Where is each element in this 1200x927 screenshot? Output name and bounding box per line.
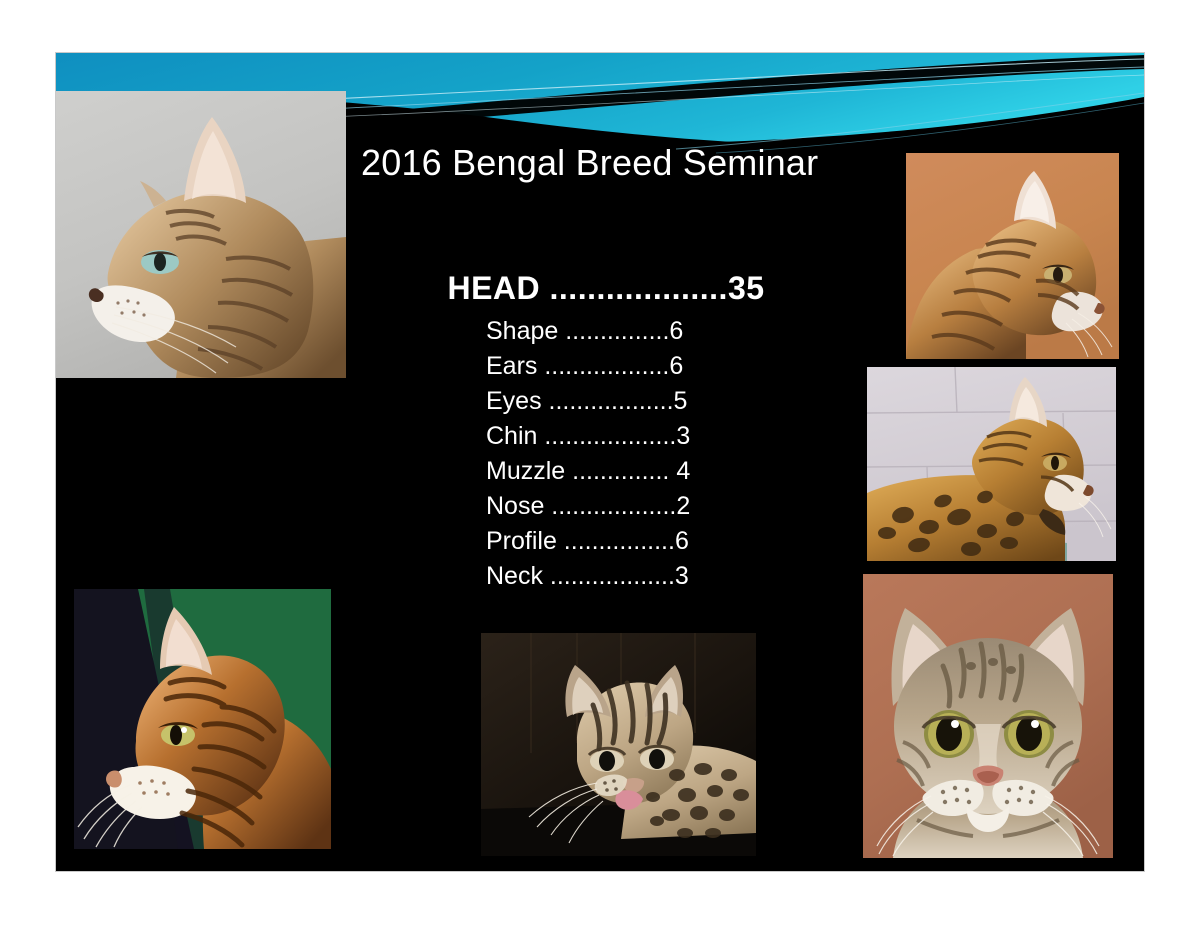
page-title: 2016 Bengal Breed Seminar xyxy=(361,141,921,185)
slide-page: 2016 Bengal Breed Seminar xyxy=(0,0,1200,927)
scorecard-row-ears: Ears ..................6 xyxy=(486,349,726,384)
photo-bengal-kitten-licking-nose xyxy=(481,633,756,856)
photo-bengal-profile-gray-background xyxy=(56,91,346,378)
photo-bengal-profile-green-background xyxy=(74,589,331,849)
scorecard-heading: HEAD ...................35 xyxy=(376,266,836,310)
scorecard-row-muzzle: Muzzle .............. 4 xyxy=(486,454,726,489)
scorecard-row-chin: Chin ...................3 xyxy=(486,419,726,454)
scorecard-row-eyes: Eyes ..................5 xyxy=(486,384,726,419)
scorecard-row-profile: Profile ................6 xyxy=(486,524,726,559)
presentation-slide: 2016 Bengal Breed Seminar xyxy=(55,52,1145,872)
scorecard-item-list: Shape ...............6 Ears ............… xyxy=(376,314,836,594)
photo-bengal-frontal-face-portrait xyxy=(863,574,1113,858)
scorecard-row-shape: Shape ...............6 xyxy=(486,314,726,349)
scorecard-row-nose: Nose ..................2 xyxy=(486,489,726,524)
scorecard-row-neck: Neck ..................3 xyxy=(486,559,726,594)
photo-bengal-rosetted-profile-wall xyxy=(867,367,1116,561)
head-scorecard: HEAD ...................35 Shape .......… xyxy=(376,266,836,594)
photo-bengal-profile-terracotta-background xyxy=(906,153,1119,359)
